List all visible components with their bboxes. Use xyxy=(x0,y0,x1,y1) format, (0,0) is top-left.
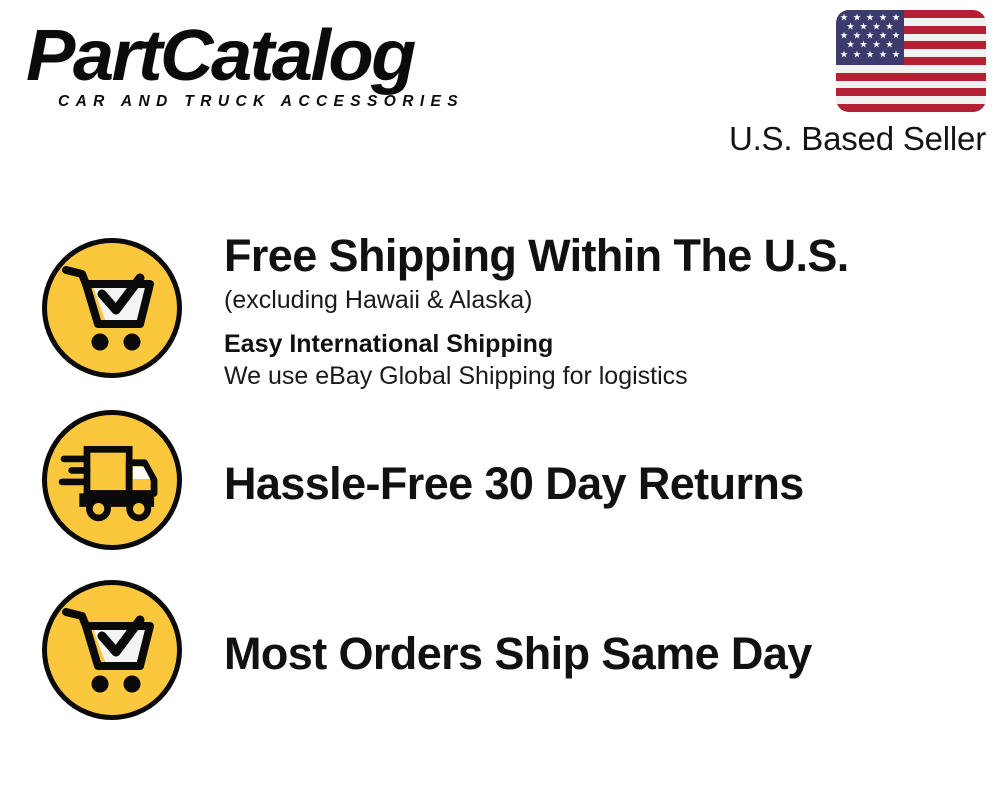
shopping-cart-check-icon xyxy=(62,602,162,698)
feature-headline: Most Orders Ship Same Day xyxy=(224,630,1000,678)
feature-row: Hassle-Free 30 Day Returns xyxy=(0,410,1000,560)
delivery-truck-icon xyxy=(58,434,162,526)
seller-label: U.S. Based Seller xyxy=(716,120,986,158)
flag-canton: ★ ★ ★ ★ ★ ★ ★ ★ ★ ★ ★ ★ ★ ★ ★ ★ ★ ★ ★ ★ xyxy=(836,10,904,65)
flag-stripe xyxy=(836,88,986,96)
feature-text: Most Orders Ship Same Day xyxy=(224,630,1000,680)
feature-subtext: (excluding Hawaii & Alaska) xyxy=(224,285,1000,316)
page-header: PartCatalog CAR AND TRUCK ACCESSORIES ★ … xyxy=(0,0,1000,170)
flag-star: ★ xyxy=(866,50,875,60)
feature-headline: Free Shipping Within The U.S. xyxy=(224,232,1000,280)
seller-badge: ★ ★ ★ ★ ★ ★ ★ ★ ★ ★ ★ ★ ★ ★ ★ ★ ★ ★ ★ ★ xyxy=(716,10,986,158)
shopping-cart-check-icon xyxy=(62,260,162,356)
brand-wordmark: PartCatalog xyxy=(26,22,510,91)
feature-text: Free Shipping Within The U.S. (excluding… xyxy=(224,232,1000,393)
feature-headline: Hassle-Free 30 Day Returns xyxy=(224,460,1000,508)
feature-row: Free Shipping Within The U.S. (excluding… xyxy=(0,228,1000,398)
feature-icon-wrap xyxy=(42,238,192,388)
us-flag-icon: ★ ★ ★ ★ ★ ★ ★ ★ ★ ★ ★ ★ ★ ★ ★ ★ ★ ★ ★ ★ xyxy=(836,10,986,112)
flag-stripe xyxy=(836,65,986,73)
feature-subtext-strong: Easy International Shipping xyxy=(224,329,1000,360)
flag-star: ★ xyxy=(892,50,901,60)
flag-star: ★ xyxy=(879,50,888,60)
feature-icon-wrap xyxy=(42,580,192,730)
feature-row: Most Orders Ship Same Day xyxy=(0,580,1000,730)
flag-stripe xyxy=(836,104,986,112)
feature-subtext-secondary: We use eBay Global Shipping for logistic… xyxy=(224,361,1000,392)
flag-star: ★ xyxy=(840,50,849,60)
flag-stripe xyxy=(836,96,986,104)
brand-logo[interactable]: PartCatalog CAR AND TRUCK ACCESSORIES xyxy=(26,22,496,111)
flag-stripe xyxy=(836,81,986,89)
flag-star: ★ xyxy=(853,50,862,60)
feature-icon-wrap xyxy=(42,410,192,560)
flag-stripe xyxy=(836,73,986,81)
feature-text: Hassle-Free 30 Day Returns xyxy=(224,460,1000,510)
